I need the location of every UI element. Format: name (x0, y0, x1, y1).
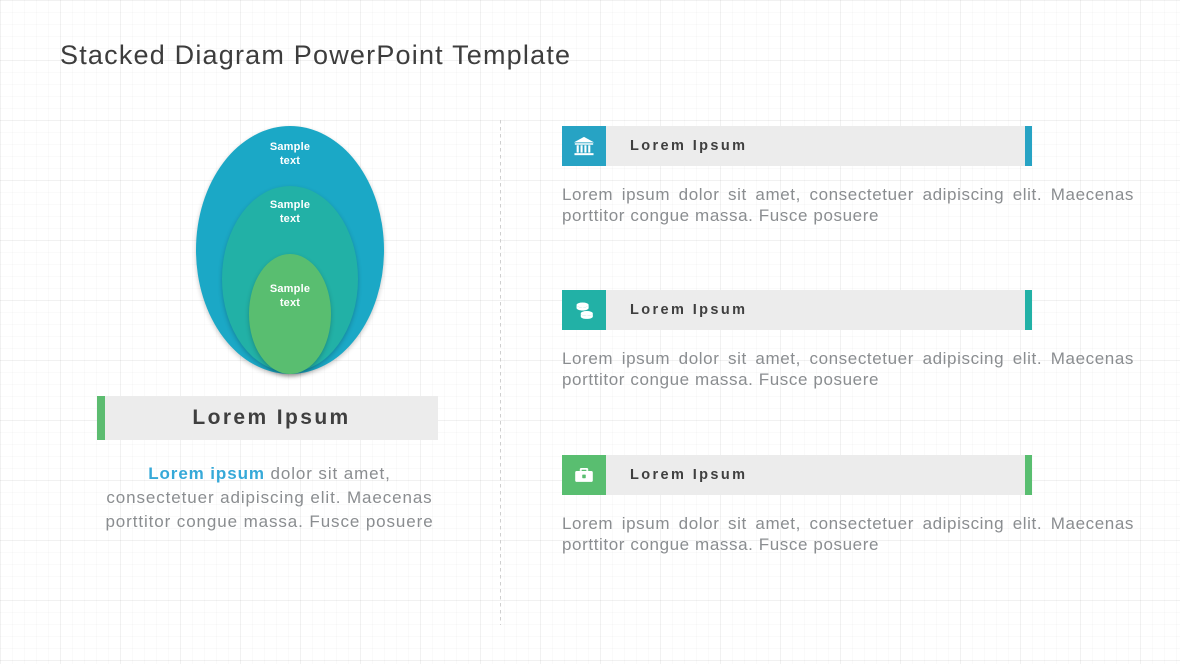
list-item: Lorem Ipsum Lorem ipsum dolor sit amet, … (562, 455, 1180, 555)
left-heading-bar[interactable]: Lorem Ipsum (97, 396, 438, 440)
oval-outer-label: Sample text (196, 140, 384, 168)
left-heading-label: Lorem Ipsum (105, 406, 438, 430)
oval-outer-label-line1: Sample (270, 141, 310, 153)
item-body-text: Lorem ipsum dolor sit amet, consectetuer… (562, 349, 1134, 390)
item-accent (1025, 455, 1032, 495)
oval-middle-label: Sample text (222, 198, 358, 226)
item-label: Lorem Ipsum (630, 138, 747, 154)
oval-outer-label-line2: text (280, 155, 300, 167)
bank-icon (562, 126, 606, 166)
oval-inner-label: Sample text (249, 282, 331, 310)
left-heading-accent (97, 396, 105, 440)
coins-icon (562, 290, 606, 330)
oval-inner-label-line2: text (280, 297, 300, 309)
right-column: Lorem Ipsum Lorem ipsum dolor sit amet, … (562, 0, 1180, 664)
item-label: Lorem Ipsum (630, 467, 747, 483)
oval-inner-label-line1: Sample (270, 283, 310, 295)
briefcase-icon (562, 455, 606, 495)
stacked-oval-diagram: Sample text Sample text Sample text (196, 126, 384, 374)
left-column: Sample text Sample text Sample text Lore… (0, 0, 500, 664)
item-accent (1025, 126, 1032, 166)
item-header-bar[interactable]: Lorem Ipsum (562, 290, 1032, 330)
oval-inner[interactable]: Sample text (249, 254, 331, 374)
oval-middle-label-line1: Sample (270, 199, 310, 211)
item-accent (1025, 290, 1032, 330)
list-item: Lorem Ipsum Lorem ipsum dolor sit amet, … (562, 126, 1180, 226)
slide-canvas: Stacked Diagram PowerPoint Template Samp… (0, 0, 1180, 664)
item-label: Lorem Ipsum (630, 302, 747, 318)
item-body-text: Lorem ipsum dolor sit amet, consectetuer… (562, 514, 1134, 555)
oval-middle-label-line2: text (280, 213, 300, 225)
column-divider (500, 120, 501, 625)
item-header-bar[interactable]: Lorem Ipsum (562, 126, 1032, 166)
left-body-highlight: Lorem ipsum (148, 464, 265, 483)
left-body-text: Lorem ipsum dolor sit amet, consectetuer… (92, 462, 447, 533)
item-header-bar[interactable]: Lorem Ipsum (562, 455, 1032, 495)
item-body-text: Lorem ipsum dolor sit amet, consectetuer… (562, 185, 1134, 226)
list-item: Lorem Ipsum Lorem ipsum dolor sit amet, … (562, 290, 1180, 390)
